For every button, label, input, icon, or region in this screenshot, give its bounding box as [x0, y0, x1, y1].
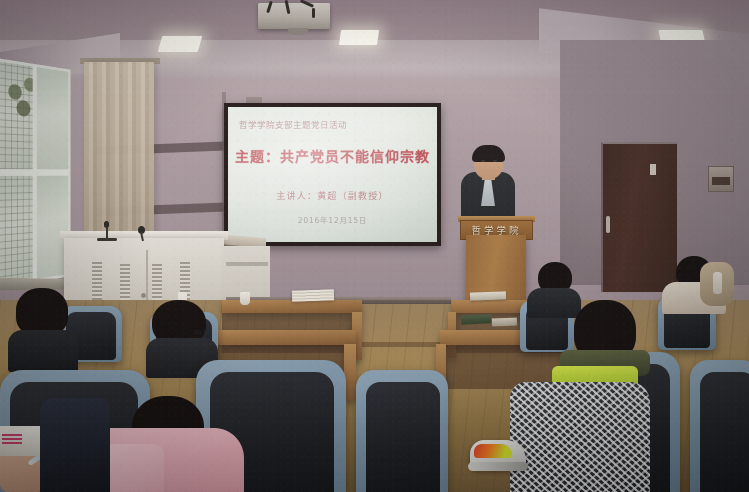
slide-header-text: 哲学学院支部主题党日活动 [239, 119, 347, 131]
book [492, 318, 517, 327]
paper-stack [292, 289, 334, 301]
window-grill [0, 175, 33, 285]
console-knob[interactable] [141, 293, 146, 298]
ceiling-panel-light [339, 30, 379, 45]
thermos-bottle [713, 272, 722, 294]
eyeglasses-icon [193, 330, 202, 335]
paper-cup [240, 292, 250, 305]
notebook-marking [2, 434, 22, 444]
chair-pad [366, 382, 440, 492]
speaker-eye [481, 160, 485, 162]
sneaker-sole [468, 462, 528, 471]
door-handle-icon[interactable] [606, 216, 610, 233]
chair-pad [700, 372, 749, 492]
entry-door[interactable] [601, 142, 677, 292]
desk [206, 330, 356, 345]
window-mullion [0, 169, 68, 176]
door-plate [650, 164, 656, 175]
audience-body [8, 330, 78, 372]
audience-body [527, 288, 581, 318]
console-vent [152, 264, 162, 302]
audience-head [16, 288, 68, 336]
console-vent [92, 262, 102, 300]
wall-notice-panel [708, 166, 734, 192]
lecture-hall-photo: 哲学学院支部主题党日活动 主题：共产党员不能信仰宗教 主讲人：黄超（副教授） 2… [0, 0, 749, 492]
paper-stack [470, 291, 506, 300]
slide-speaker-text: 主讲人：黄超（副教授） [228, 189, 437, 202]
audience-patterned-jacket [510, 382, 650, 492]
slide-date-text: 2016年12月15日 [228, 215, 437, 226]
projection-screen: 哲学学院支部主题党日活动 主题：共产党员不能信仰宗教 主讲人：黄超（副教授） 2… [224, 103, 441, 246]
audience-body [40, 398, 110, 492]
ceiling-panel-light [158, 36, 203, 52]
window [0, 58, 70, 288]
window-foliage [0, 66, 47, 131]
projection-screen-surface: 哲学学院支部主题党日活动 主题：共产党员不能信仰宗教 主讲人：黄超（副教授） 2… [228, 107, 437, 242]
side-cabinet-shelf [226, 262, 268, 266]
projector-cable [312, 8, 315, 18]
speaker-eye [493, 160, 497, 162]
speaker-hair [472, 145, 505, 162]
projector-lens-icon [288, 28, 308, 35]
sneaker-stripe [474, 444, 512, 458]
console-vent [120, 264, 130, 302]
book [461, 314, 491, 325]
slide-title-text: 主题：共产党员不能信仰宗教 [228, 147, 437, 167]
microphone-base [97, 238, 117, 241]
